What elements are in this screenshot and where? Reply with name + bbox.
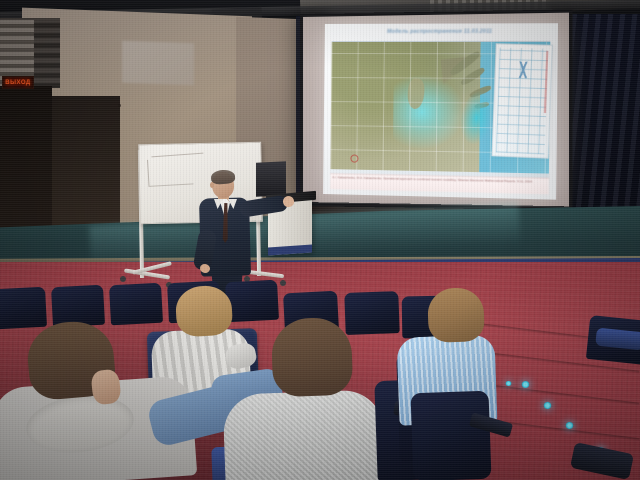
student-mid-left-hair [175, 285, 234, 338]
projected-slide: Модель распространения 11.03.2011 A.I. K… [323, 23, 558, 199]
empty-seat[interactable] [225, 280, 279, 323]
exit-sign-label: ВЫХОД [5, 80, 30, 86]
empty-seat[interactable] [51, 285, 105, 328]
step-led-light [543, 402, 552, 409]
presenter-hair [211, 169, 236, 185]
student-front-right-hair [271, 317, 354, 398]
seat-back[interactable] [410, 391, 491, 480]
inset-trace [500, 61, 547, 79]
map-epicenter-marker [350, 154, 358, 162]
presenter-ear [210, 182, 214, 188]
slide-inset-chart [491, 43, 552, 158]
lecture-hall-photo: ВЫХОД Модель распространения 11.03.2011 [0, 0, 640, 480]
slide-title: Модель распространения 11.03.2011 [325, 28, 558, 35]
student-right-hair [427, 287, 485, 343]
empty-seat[interactable] [109, 283, 163, 326]
step-led-light [565, 422, 574, 429]
empty-seat[interactable] [0, 287, 47, 330]
empty-seat[interactable] [344, 291, 399, 335]
whiteboard-marks [151, 153, 203, 158]
lectern-cabinet [256, 161, 286, 197]
wall-patch [122, 41, 194, 86]
exit-sign: ВЫХОД [2, 76, 34, 89]
student-front-right-sweater [222, 389, 385, 480]
step-led-light [521, 381, 530, 388]
whiteboard-caster [280, 280, 286, 286]
whiteboard-marks [147, 157, 193, 186]
step-led-light [505, 381, 512, 386]
whiteboard-caster [120, 276, 126, 282]
student-front-left-face [90, 369, 121, 406]
slide-caption: A.I. Kabatchenko, M.A. Kabatchenko. Oper… [330, 173, 549, 194]
